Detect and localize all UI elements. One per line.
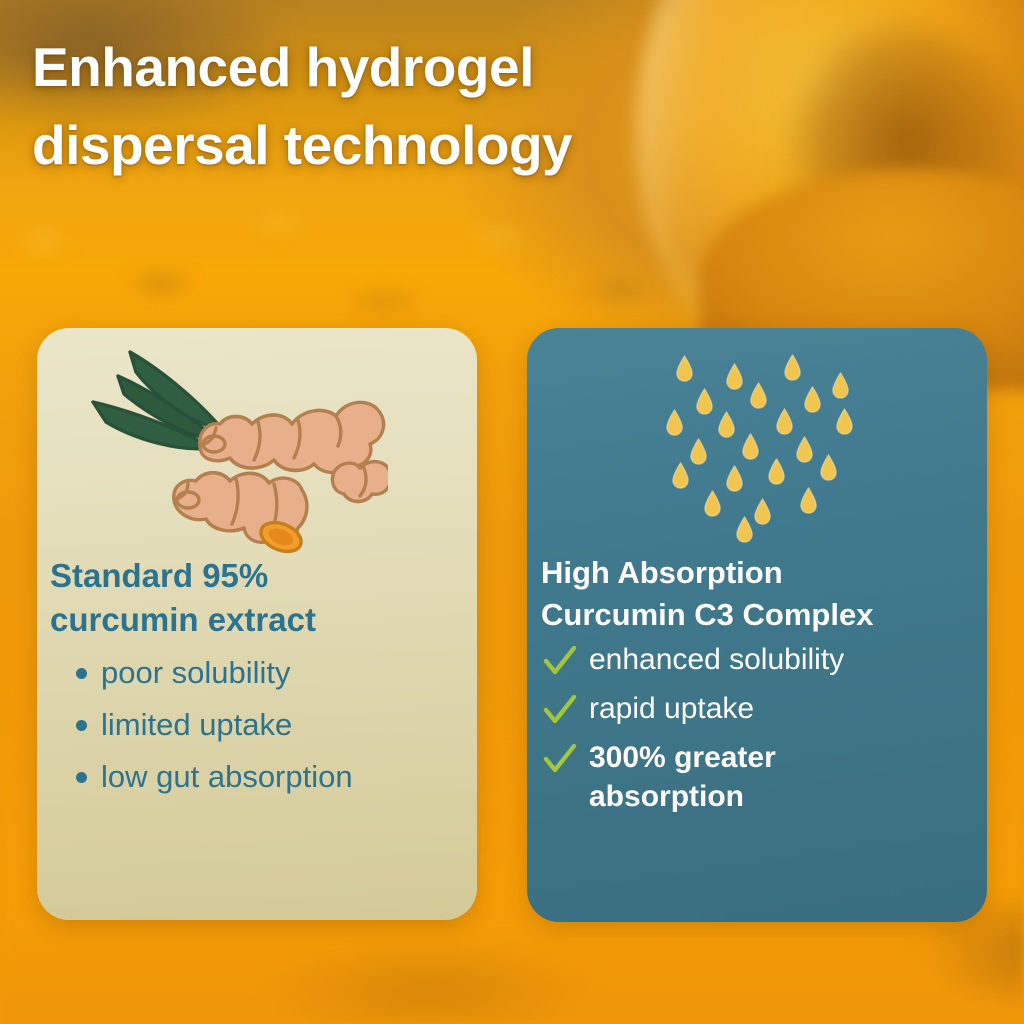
list-item: poor solubility (50, 654, 470, 692)
list-item: 300% greater absorption (541, 738, 985, 816)
droplet-icon (776, 408, 793, 435)
droplet-icon (676, 355, 693, 382)
turmeric-root-illustration (88, 340, 388, 560)
droplet-icon (666, 409, 683, 436)
droplet-icon (750, 382, 767, 409)
droplet-icon (726, 465, 743, 492)
list-item: limited uptake (50, 706, 470, 744)
droplet-icon (742, 433, 759, 460)
check-label: enhanced solubility (589, 640, 844, 679)
standard-card-bullet-list: poor solubility limited uptake low gut a… (50, 654, 470, 796)
list-item: enhanced solubility (541, 640, 985, 680)
droplet-icon (736, 516, 753, 543)
infographic-canvas: Enhanced hydrogel dispersal technology (0, 0, 1024, 1024)
bullet-label: limited uptake (101, 706, 292, 744)
check-icon (541, 691, 579, 729)
bullet-dot-icon (76, 772, 87, 783)
page-title: Enhanced hydrogel dispersal technology (32, 28, 792, 184)
droplet-icon (726, 363, 743, 390)
droplet-icon (704, 490, 721, 517)
droplet-icon (754, 498, 771, 525)
droplet-icon (784, 354, 801, 381)
list-item: rapid uptake (541, 689, 985, 729)
droplet-icon (718, 411, 735, 438)
droplet-icon (836, 408, 853, 435)
droplet-icon (690, 438, 707, 465)
droplet-icon (832, 372, 849, 399)
droplet-icon (820, 454, 837, 481)
droplet-icon (696, 388, 713, 415)
droplet-icon (800, 487, 817, 514)
droplet-icon (804, 386, 821, 413)
high-absorption-card-title: High Absorption Curcumin C3 Complex (541, 552, 985, 636)
check-icon (541, 740, 579, 778)
check-icon (541, 642, 579, 680)
bullet-label: poor solubility (101, 654, 291, 692)
droplet-icon (672, 462, 689, 489)
standard-card-content: Standard 95% curcumin extract poor solub… (50, 554, 470, 810)
list-item: low gut absorption (50, 758, 470, 796)
bullet-label: low gut absorption (101, 758, 353, 796)
check-label: 300% greater absorption (589, 738, 776, 816)
bullet-dot-icon (76, 720, 87, 731)
standard-card-title: Standard 95% curcumin extract (50, 554, 470, 642)
high-absorption-card-content: High Absorption Curcumin C3 Complex enha… (541, 552, 985, 825)
droplets-illustration (660, 350, 860, 530)
droplet-icon (796, 436, 813, 463)
droplet-icon (768, 458, 785, 485)
check-label: rapid uptake (589, 689, 754, 728)
bullet-dot-icon (76, 668, 87, 679)
high-absorption-check-list: enhanced solubility rapid uptake 300% gr… (541, 640, 985, 816)
